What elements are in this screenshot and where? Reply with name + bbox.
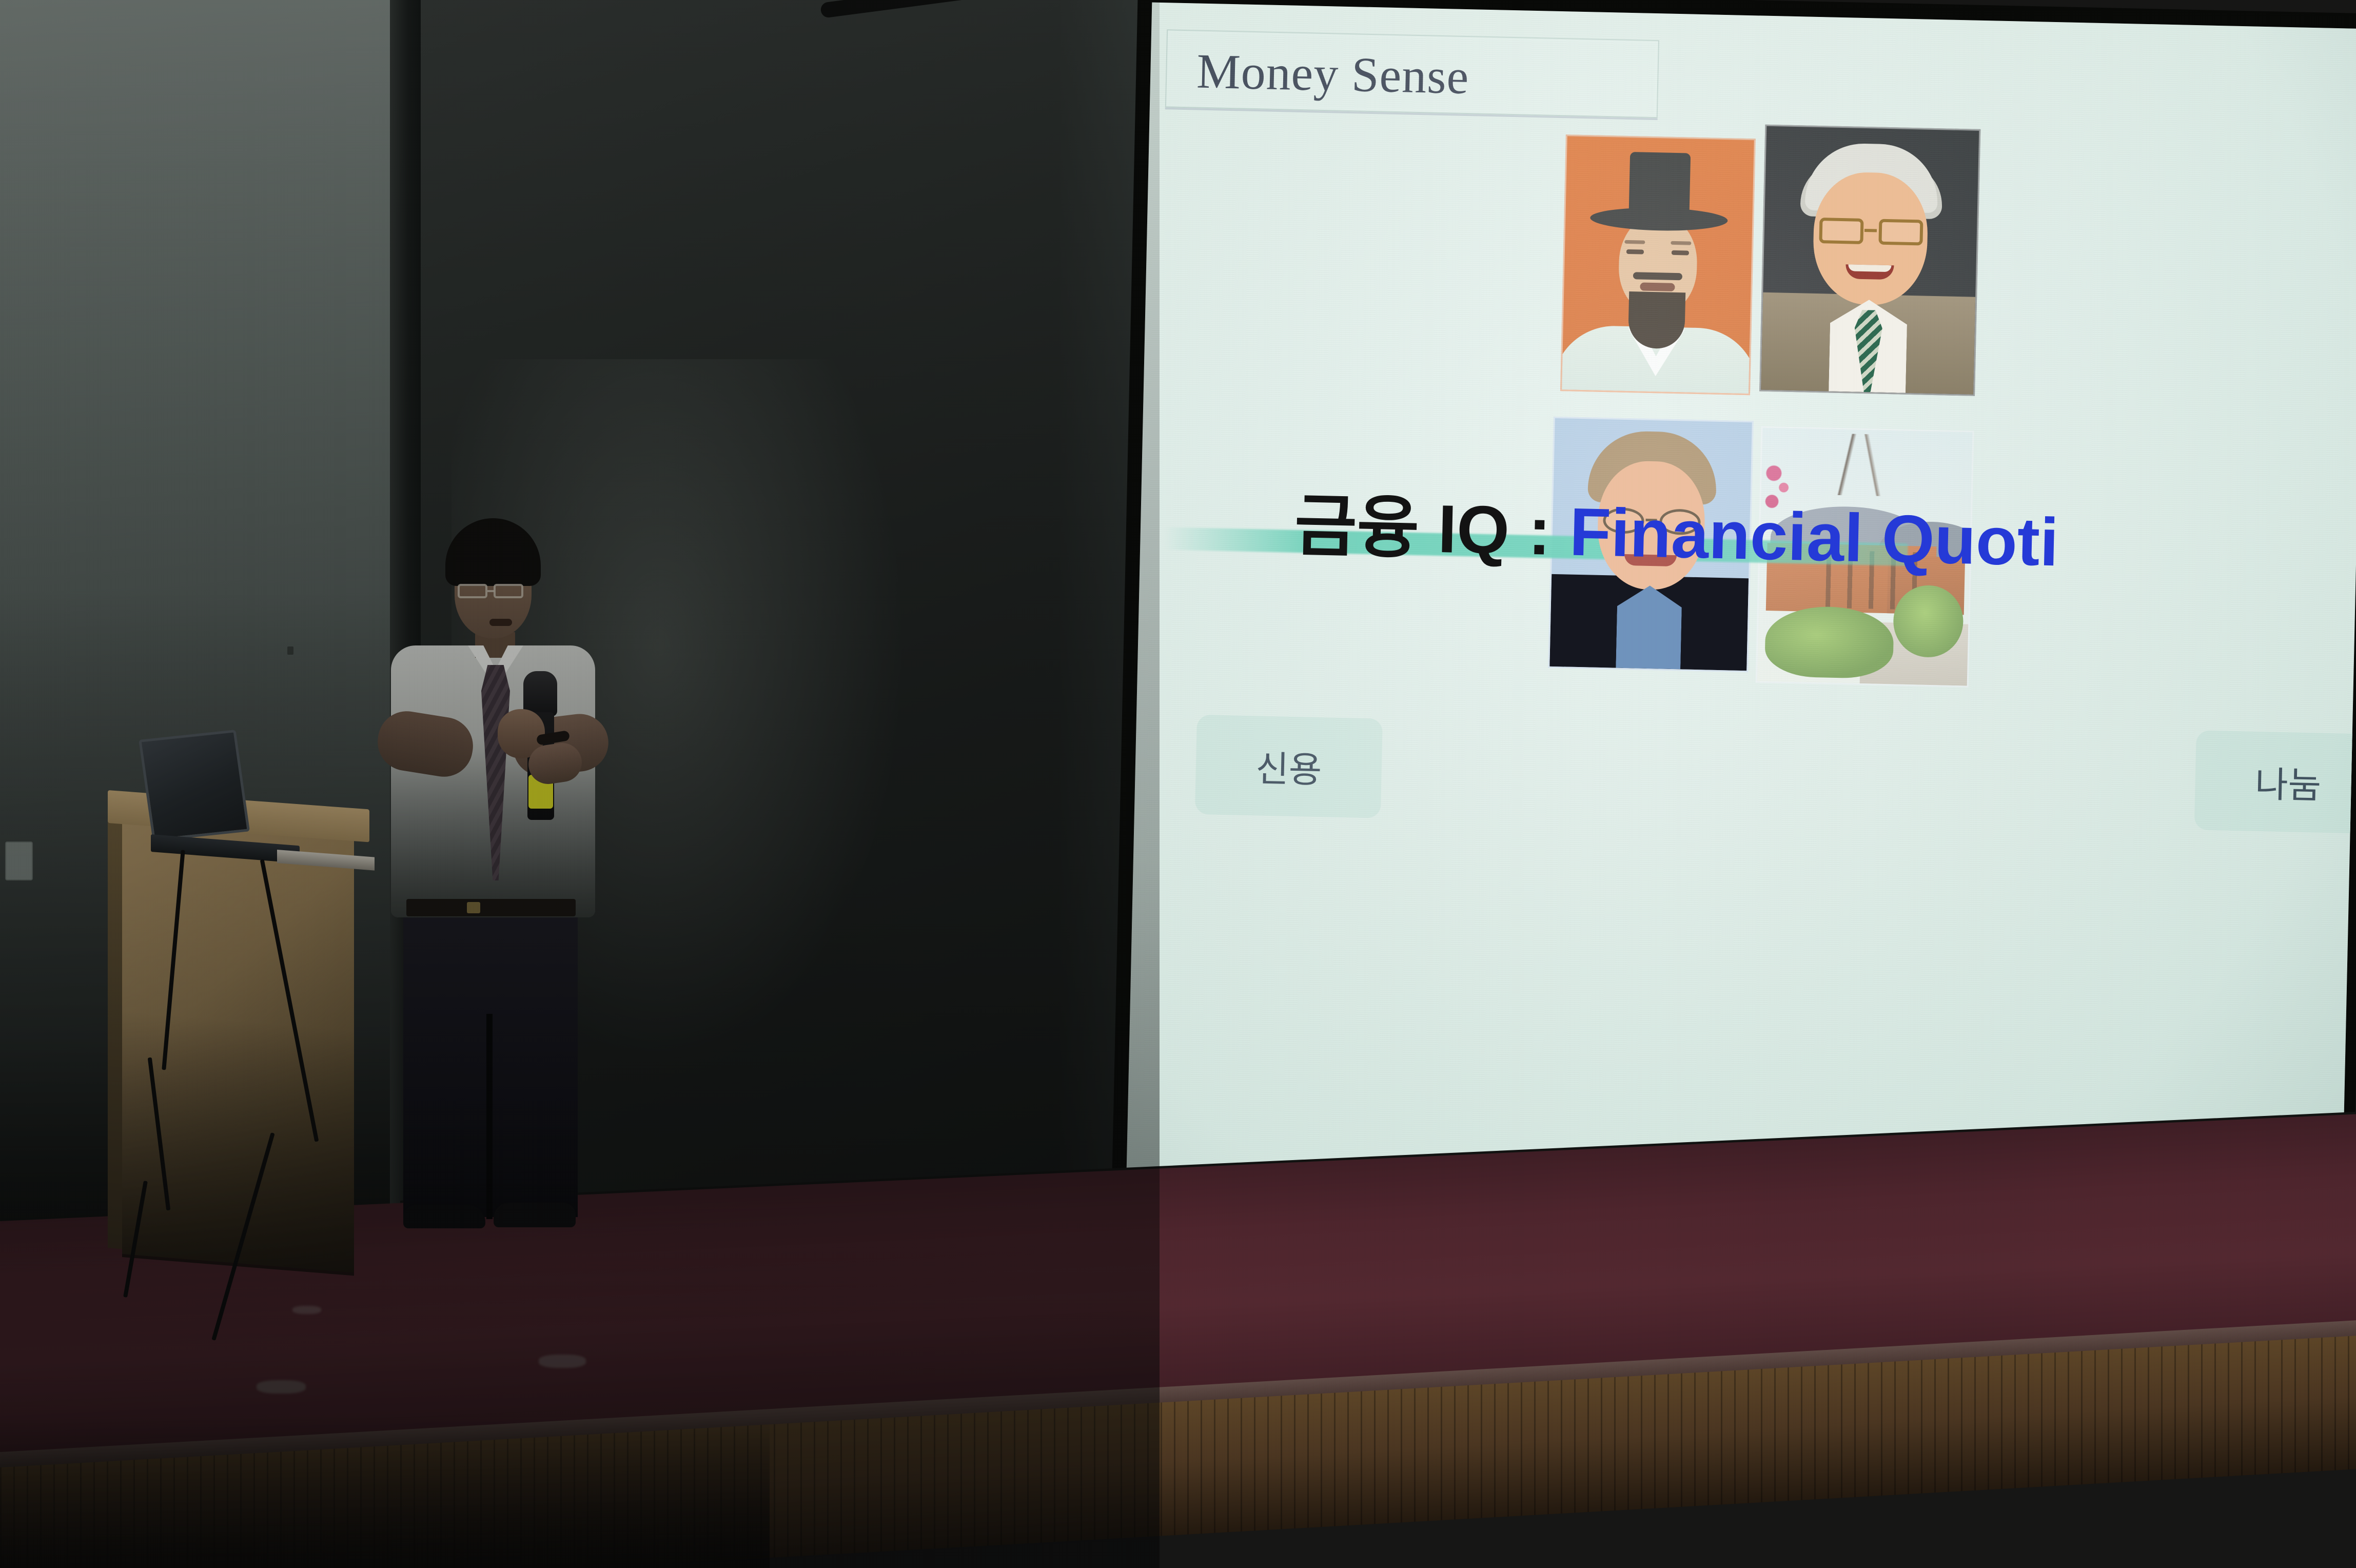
glasses-bridge bbox=[1864, 229, 1877, 232]
shoe-left bbox=[403, 1205, 485, 1228]
hair bbox=[445, 518, 541, 586]
mouth bbox=[1640, 282, 1675, 291]
eyebrow-right bbox=[1671, 241, 1691, 245]
tag-sharing: 나눔 bbox=[2194, 730, 2356, 834]
slide-headline: 금융 IQ : Financial Quoti bbox=[1294, 492, 2059, 576]
mouth bbox=[489, 619, 512, 626]
slide-title: Money Sense bbox=[1196, 43, 1469, 106]
laptop-screen bbox=[139, 730, 250, 841]
glasses-bridge bbox=[487, 590, 495, 592]
presenter bbox=[359, 518, 626, 1267]
tag-sharing-label: 나눔 bbox=[2254, 755, 2322, 809]
photo-warren-buffett bbox=[1759, 125, 1980, 396]
presentation-photo: Money Sense bbox=[0, 0, 2356, 1568]
teeth bbox=[1848, 264, 1891, 272]
lectern bbox=[108, 790, 369, 1293]
slide-title-box: Money Sense bbox=[1165, 29, 1659, 118]
belt bbox=[406, 899, 576, 916]
floor-mark bbox=[539, 1355, 586, 1368]
trouser-leg-gap bbox=[486, 1014, 493, 1219]
slide-surface: Money Sense bbox=[1125, 3, 2356, 1286]
eyebrow-left bbox=[1624, 240, 1645, 244]
gat-hat-crown bbox=[1629, 152, 1691, 215]
glasses-right-lens bbox=[1878, 219, 1923, 246]
belt-buckle bbox=[467, 902, 480, 913]
glasses-right-lens bbox=[494, 584, 523, 598]
lectern-shadow bbox=[122, 1011, 354, 1276]
wall-mark bbox=[287, 646, 293, 655]
moustache bbox=[1633, 272, 1682, 280]
photo-joseon-merchant bbox=[1560, 134, 1756, 395]
glasses-left-lens bbox=[1819, 218, 1863, 244]
shoe-right bbox=[494, 1203, 576, 1227]
tag-credit: 신용 bbox=[1195, 715, 1383, 818]
eye-right bbox=[1672, 250, 1689, 256]
tag-credit-label: 신용 bbox=[1255, 740, 1322, 793]
floor-shadow-left bbox=[0, 1416, 770, 1568]
floor-mark bbox=[257, 1380, 306, 1394]
headline-english: Financial Quoti bbox=[1569, 494, 2059, 580]
floor-mark bbox=[292, 1306, 321, 1314]
wall-outlet bbox=[5, 841, 33, 880]
glasses-left-lens bbox=[458, 584, 487, 598]
headline-korean: 금융 IQ bbox=[1294, 488, 1510, 568]
eye-left bbox=[1626, 249, 1644, 254]
headline-separator: : bbox=[1508, 493, 1570, 570]
